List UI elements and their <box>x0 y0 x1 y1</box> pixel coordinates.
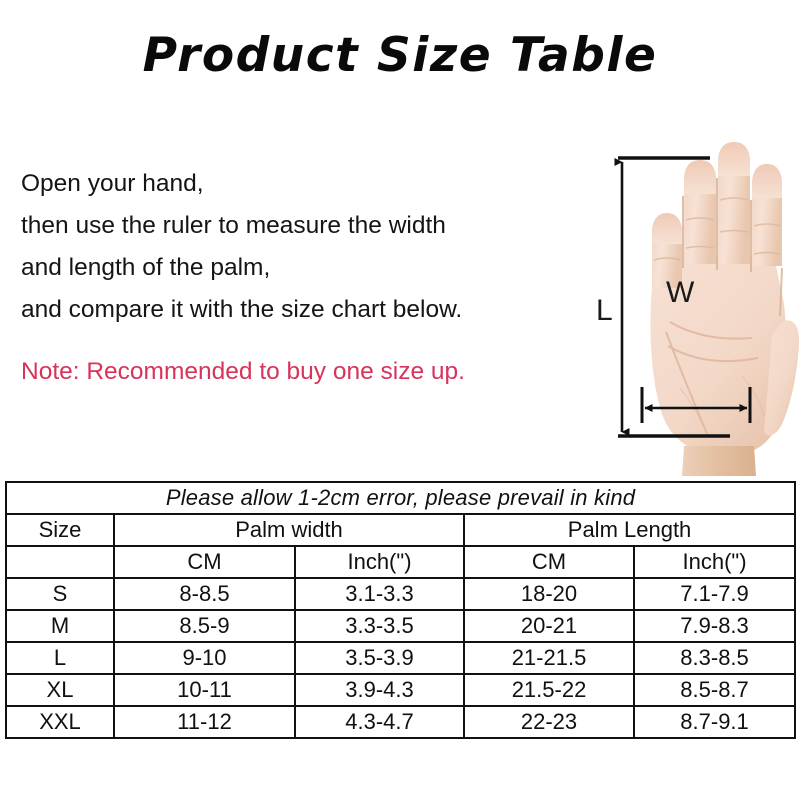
cell-width-cm: 9-10 <box>114 642 295 674</box>
cell-length-inch: 8.7-9.1 <box>634 706 795 738</box>
cell-length-inch: 7.1-7.9 <box>634 578 795 610</box>
table-unit-header-row: CM Inch(") CM Inch(") <box>6 546 795 578</box>
cell-length-cm: 20-21 <box>464 610 634 642</box>
header-size: Size <box>6 514 114 546</box>
table-row: S 8-8.5 3.1-3.3 18-20 7.1-7.9 <box>6 578 795 610</box>
cell-length-inch: 8.3-8.5 <box>634 642 795 674</box>
cell-length-cm: 18-20 <box>464 578 634 610</box>
hand-photo <box>622 136 800 476</box>
size-table: Please allow 1-2cm error, please prevail… <box>5 481 796 739</box>
table-group-header-row: Size Palm width Palm Length <box>6 514 795 546</box>
instructions-block: Open your hand, then use the ruler to me… <box>21 163 581 331</box>
cell-width-inch: 3.3-3.5 <box>295 610 464 642</box>
cell-width-cm: 8.5-9 <box>114 610 295 642</box>
cell-size: S <box>6 578 114 610</box>
cell-width-cm: 10-11 <box>114 674 295 706</box>
table-row: XL 10-11 3.9-4.3 21.5-22 8.5-8.7 <box>6 674 795 706</box>
cell-size: XL <box>6 674 114 706</box>
cell-width-cm: 8-8.5 <box>114 578 295 610</box>
instruction-line-3: and length of the palm, <box>21 247 581 289</box>
header-length-cm: CM <box>464 546 634 578</box>
header-length-inch: Inch(") <box>634 546 795 578</box>
instruction-line-4: and compare it with the size chart below… <box>21 289 581 331</box>
width-label: W <box>666 278 694 308</box>
table-row: L 9-10 3.5-3.9 21-21.5 8.3-8.5 <box>6 642 795 674</box>
table-row: XXL 11-12 4.3-4.7 22-23 8.7-9.1 <box>6 706 795 738</box>
cell-length-cm: 22-23 <box>464 706 634 738</box>
header-palm-length: Palm Length <box>464 514 795 546</box>
size-chart: Please allow 1-2cm error, please prevail… <box>5 481 794 739</box>
cell-size: XXL <box>6 706 114 738</box>
header-width-inch: Inch(") <box>295 546 464 578</box>
cell-size: M <box>6 610 114 642</box>
header-width-cm: CM <box>114 546 295 578</box>
table-row: M 8.5-9 3.3-3.5 20-21 7.9-8.3 <box>6 610 795 642</box>
length-label: L <box>596 296 613 326</box>
cell-length-inch: 7.9-8.3 <box>634 610 795 642</box>
page-title: Product Size Table <box>0 28 800 83</box>
cell-size: L <box>6 642 114 674</box>
cell-length-cm: 21.5-22 <box>464 674 634 706</box>
cell-width-inch: 3.9-4.3 <box>295 674 464 706</box>
instruction-line-2: then use the ruler to measure the width <box>21 205 581 247</box>
instruction-line-1: Open your hand, <box>21 163 581 205</box>
cell-width-inch: 4.3-4.7 <box>295 706 464 738</box>
banner-cell: Please allow 1-2cm error, please prevail… <box>6 482 795 514</box>
cell-length-inch: 8.5-8.7 <box>634 674 795 706</box>
note-text: Note: Recommended to buy one size up. <box>21 355 465 389</box>
cell-width-inch: 3.5-3.9 <box>295 642 464 674</box>
cell-width-inch: 3.1-3.3 <box>295 578 464 610</box>
cell-width-cm: 11-12 <box>114 706 295 738</box>
table-banner-row: Please allow 1-2cm error, please prevail… <box>6 482 795 514</box>
header-palm-width: Palm width <box>114 514 464 546</box>
cell-length-cm: 21-21.5 <box>464 642 634 674</box>
hand-measurement-figure: L W <box>588 136 800 476</box>
header-size-spacer <box>6 546 114 578</box>
